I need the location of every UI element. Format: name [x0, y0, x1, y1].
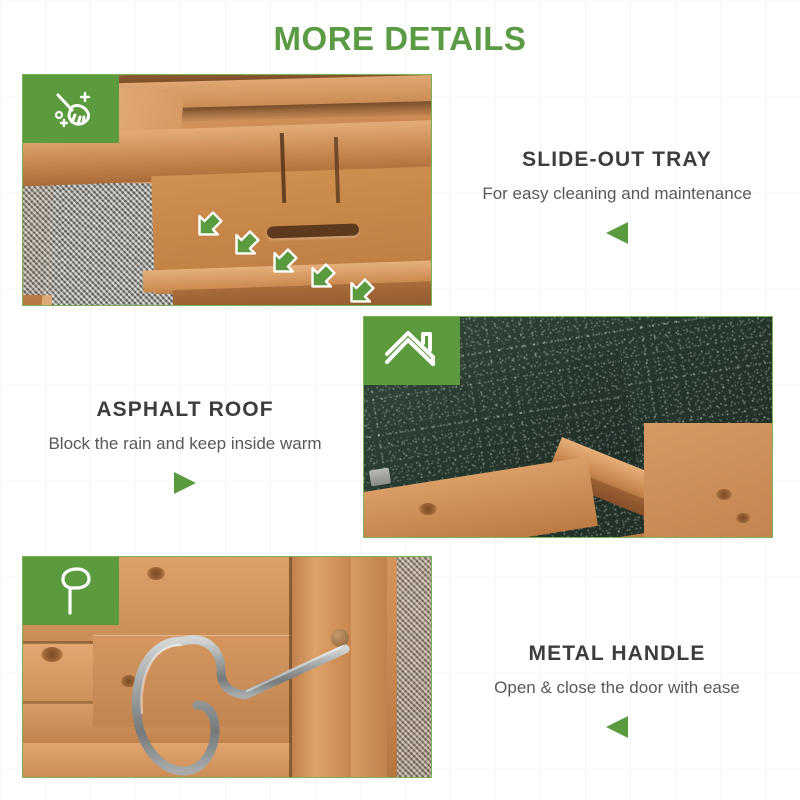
feature-photo-asphalt-roof	[363, 316, 773, 538]
wire-mesh-right	[397, 557, 432, 778]
wood-knot-3	[419, 503, 437, 515]
direction-arrow-1	[191, 211, 225, 241]
feature-arrow-asphalt-roof	[174, 472, 196, 494]
wire-mesh-panel-edge	[22, 171, 62, 296]
feature-badge-metal-handle	[23, 557, 119, 625]
broom-sparkle-icon	[45, 86, 97, 132]
hook-handle-icon	[49, 565, 93, 617]
feature-subtext-slide-out-tray: For easy cleaning and maintenance	[452, 184, 782, 204]
direction-arrow-3	[266, 248, 300, 278]
roof-chimney-icon	[383, 330, 441, 372]
wood-wall-bottom-right	[644, 423, 773, 538]
feature-arrow-slide-out-tray	[606, 222, 628, 244]
metal-s-hook-handle	[123, 605, 363, 778]
feature-badge-asphalt-roof	[364, 317, 460, 385]
feature-heading-metal-handle: METAL HANDLE	[452, 642, 782, 666]
feature-subtext-metal-handle: Open & close the door with ease	[452, 678, 782, 698]
direction-arrow-2	[228, 230, 262, 260]
wood-knot-b	[41, 647, 63, 662]
feature-heading-slide-out-tray: SLIDE-OUT TRAY	[452, 148, 782, 172]
feature-heading-asphalt-roof: ASPHALT ROOF	[20, 398, 350, 422]
feature-text-metal-handle: METAL HANDLE Open & close the door with …	[452, 642, 782, 738]
wood-knot-2	[736, 513, 750, 523]
direction-arrow-4	[304, 263, 338, 293]
feature-subtext-asphalt-roof: Block the rain and keep inside warm	[20, 434, 350, 454]
feature-arrow-metal-handle	[606, 716, 628, 738]
feature-text-slide-out-tray: SLIDE-OUT TRAY For easy cleaning and mai…	[452, 148, 782, 244]
page-title: MORE DETAILS	[0, 20, 800, 58]
metal-bracket	[369, 468, 391, 487]
feature-photo-slide-out-tray	[22, 74, 432, 306]
feature-text-asphalt-roof: ASPHALT ROOF Block the rain and keep ins…	[20, 398, 350, 494]
feature-photo-metal-handle	[22, 556, 432, 778]
wood-knot-1	[716, 489, 732, 500]
wood-knot-a	[147, 567, 165, 580]
feature-badge-slide-out-tray	[23, 75, 119, 143]
direction-arrow-5	[343, 278, 377, 306]
